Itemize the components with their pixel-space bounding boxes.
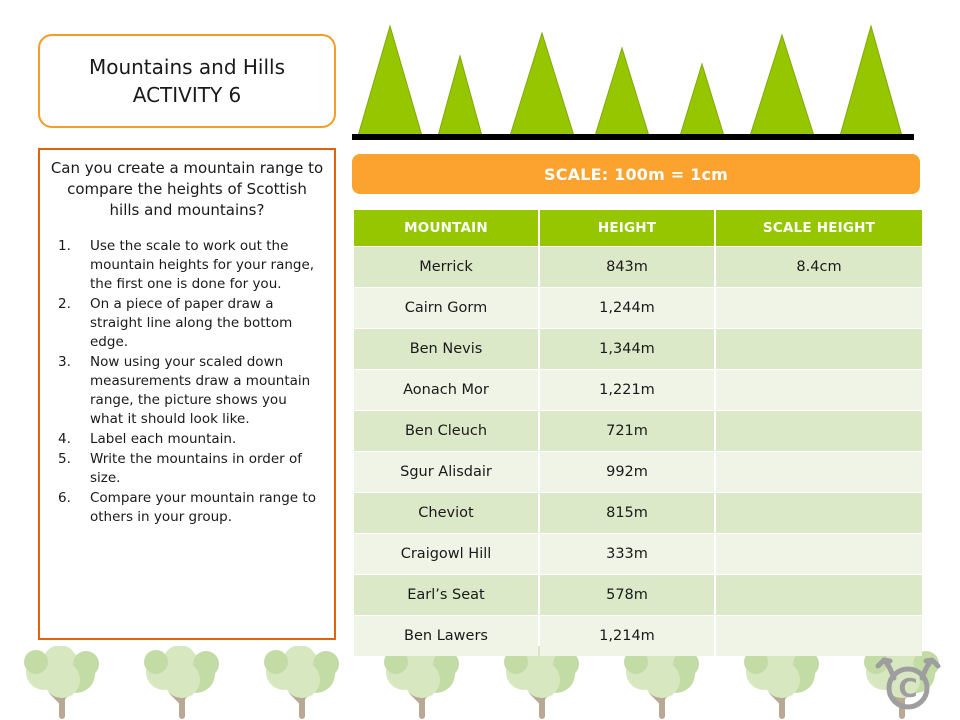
- tree-canopy-blob: [44, 662, 80, 698]
- tree-canopy-blob: [24, 650, 48, 674]
- cell-mountain-name: Merrick: [354, 247, 538, 287]
- mountain-range-illustration: [350, 8, 950, 142]
- cell-height: 1,214m: [540, 616, 714, 656]
- mountain-peak: [750, 35, 814, 136]
- tree-canopy-blob: [404, 662, 440, 698]
- cell-scale-height[interactable]: [716, 493, 922, 533]
- tree-canopy-blob: [144, 650, 168, 674]
- tree-canopy-blob: [284, 662, 320, 698]
- instruction-step: 4.Label each mountain.: [50, 430, 324, 449]
- mountain-peak: [840, 26, 902, 136]
- cell-height: 578m: [540, 575, 714, 615]
- instruction-step-number: 1.: [58, 237, 71, 256]
- tree-canopy-blob: [164, 662, 200, 698]
- instruction-step-text: Now using your scaled down measurements …: [90, 354, 310, 427]
- instruction-steps-list: 1.Use the scale to work out the mountain…: [50, 237, 324, 527]
- scale-banner-label: SCALE: 100m = 1cm: [544, 165, 728, 184]
- cell-mountain-name: Cheviot: [354, 493, 538, 533]
- cell-height: 1,344m: [540, 329, 714, 369]
- cell-height: 815m: [540, 493, 714, 533]
- scale-banner: SCALE: 100m = 1cm: [352, 154, 920, 194]
- copyright-stag-icon: C: [872, 652, 944, 714]
- cell-height: 843m: [540, 247, 714, 287]
- table-row: Ben Nevis1,344m: [354, 329, 922, 369]
- instruction-step-text: Label each mountain.: [90, 431, 236, 447]
- mountain-baseline: [352, 134, 914, 140]
- cell-mountain-name: Aonach Mor: [354, 370, 538, 410]
- instruction-step-number: 2.: [58, 295, 71, 314]
- cell-scale-height[interactable]: [716, 616, 922, 656]
- instruction-step: 2.On a piece of paper draw a straight li…: [50, 295, 324, 352]
- table-row: Merrick843m8.4cm: [354, 247, 922, 287]
- cell-height: 333m: [540, 534, 714, 574]
- tree-icon: [264, 646, 339, 716]
- table-row: Aonach Mor1,221m: [354, 370, 922, 410]
- mountain-peak: [680, 64, 724, 136]
- cell-height: 1,244m: [540, 288, 714, 328]
- tree-canopy-blob: [264, 650, 288, 674]
- mountain-peak: [358, 26, 422, 136]
- activity-title-box: Mountains and Hills ACTIVITY 6: [38, 34, 336, 128]
- table-row: Ben Cleuch721m: [354, 411, 922, 451]
- instruction-step: 3.Now using your scaled down measurement…: [50, 353, 324, 429]
- cell-mountain-name: Craigowl Hill: [354, 534, 538, 574]
- cell-scale-height[interactable]: [716, 452, 922, 492]
- column-header-scale-height: SCALE HEIGHT: [716, 210, 922, 246]
- cell-scale-height[interactable]: 8.4cm: [716, 247, 922, 287]
- cell-mountain-name: Earl’s Seat: [354, 575, 538, 615]
- tree-icon: [144, 646, 219, 716]
- instruction-step: 1.Use the scale to work out the mountain…: [50, 237, 324, 294]
- table-row: Ben Lawers1,214m: [354, 616, 922, 656]
- instruction-step: 5.Write the mountains in order of size.: [50, 450, 324, 488]
- table-row: Earl’s Seat578m: [354, 575, 922, 615]
- cell-scale-height[interactable]: [716, 411, 922, 451]
- instruction-step: 6.Compare your mountain range to others …: [50, 489, 324, 527]
- tree-icon: [24, 646, 99, 716]
- mountain-heights-table: MOUNTAIN HEIGHT SCALE HEIGHT Merrick843m…: [352, 209, 924, 657]
- instruction-step-number: 4.: [58, 430, 71, 449]
- instruction-step-text: On a piece of paper draw a straight line…: [90, 296, 292, 350]
- mountain-table-body: Merrick843m8.4cmCairn Gorm1,244mBen Nevi…: [354, 247, 922, 656]
- cell-height: 721m: [540, 411, 714, 451]
- cell-mountain-name: Sgur Alisdair: [354, 452, 538, 492]
- instruction-step-text: Use the scale to work out the mountain h…: [90, 238, 314, 292]
- cell-scale-height[interactable]: [716, 534, 922, 574]
- mountain-peak: [595, 48, 649, 136]
- instructions-box: Can you create a mountain range to compa…: [38, 148, 336, 640]
- cell-height: 1,221m: [540, 370, 714, 410]
- cell-scale-height[interactable]: [716, 329, 922, 369]
- column-header-mountain: MOUNTAIN: [354, 210, 538, 246]
- intro-question: Can you create a mountain range to compa…: [50, 158, 324, 221]
- instruction-step-number: 5.: [58, 450, 71, 469]
- cell-scale-height[interactable]: [716, 370, 922, 410]
- copyright-letter: C: [898, 674, 917, 704]
- table-row: Cairn Gorm1,244m: [354, 288, 922, 328]
- page-title-line-2: ACTIVITY 6: [133, 81, 242, 109]
- tree-canopy-blob: [764, 662, 800, 698]
- cell-mountain-name: Cairn Gorm: [354, 288, 538, 328]
- table-row: Sgur Alisdair992m: [354, 452, 922, 492]
- table-header-row: MOUNTAIN HEIGHT SCALE HEIGHT: [354, 210, 922, 246]
- instruction-step-text: Compare your mountain range to others in…: [90, 490, 316, 525]
- instruction-step-number: 6.: [58, 489, 71, 508]
- cell-scale-height[interactable]: [716, 575, 922, 615]
- page-title-line-1: Mountains and Hills: [89, 53, 285, 81]
- cell-mountain-name: Ben Lawers: [354, 616, 538, 656]
- cell-scale-height[interactable]: [716, 288, 922, 328]
- table-row: Cheviot815m: [354, 493, 922, 533]
- cell-mountain-name: Ben Nevis: [354, 329, 538, 369]
- tree-canopy-blob: [524, 662, 560, 698]
- instruction-step-text: Write the mountains in order of size.: [90, 451, 302, 486]
- tree-canopy-blob: [644, 662, 680, 698]
- mountain-peak: [510, 33, 574, 136]
- instruction-step-number: 3.: [58, 353, 71, 372]
- mountain-peaks-group: [358, 26, 902, 136]
- cell-height: 992m: [540, 452, 714, 492]
- table-row: Craigowl Hill333m: [354, 534, 922, 574]
- tree-decoration-strip: [0, 646, 960, 720]
- cell-mountain-name: Ben Cleuch: [354, 411, 538, 451]
- column-header-height: HEIGHT: [540, 210, 714, 246]
- mountain-peak: [438, 56, 482, 136]
